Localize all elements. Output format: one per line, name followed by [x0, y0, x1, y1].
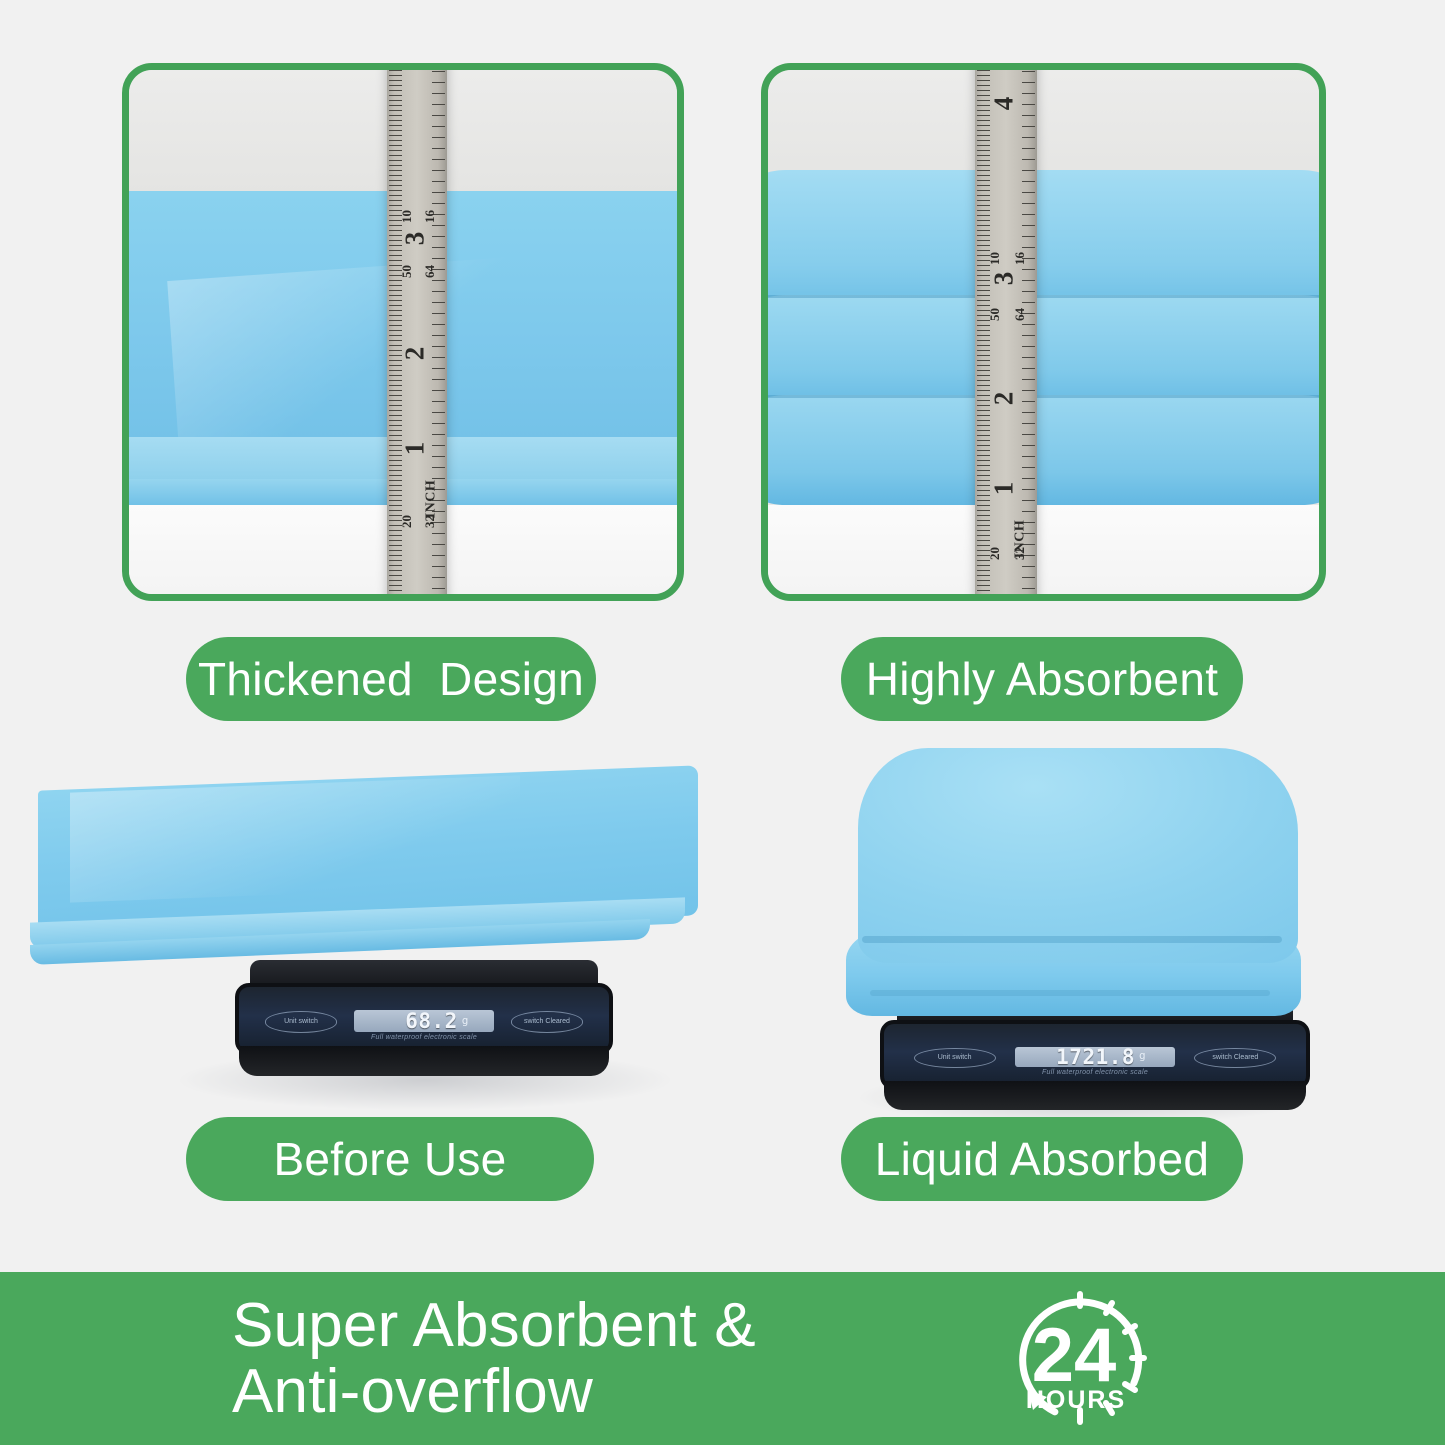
ruler-inch-mark-2: 2	[401, 346, 428, 360]
bottom-banner: Super Absorbent & Anti-overflow	[0, 1272, 1445, 1445]
underpad-fold-highlight	[167, 257, 518, 458]
photo-surface-bottom	[768, 505, 1319, 594]
clock-24-hours-icon: 24 HOURS	[1000, 1278, 1160, 1438]
label-thickened-design-text: Thickened Design	[198, 652, 584, 706]
unit-switch-button[interactable]: Unit switch	[265, 1011, 337, 1032]
scale-base	[884, 1081, 1305, 1110]
dry-underpad-sheen	[70, 775, 520, 902]
unit-switch-button[interactable]: Unit switch	[914, 1048, 996, 1068]
ruler-metric-mark-20: 20	[400, 515, 413, 528]
ruler-inch-mark-4: 4	[990, 96, 1017, 110]
scale-brand-mark	[239, 1001, 609, 1008]
label-highly-absorbent-text: Highly Absorbent	[866, 652, 1219, 706]
label-liquid-absorbed: Liquid Absorbed	[841, 1117, 1243, 1201]
scale-front-panel: Unit switch 68.2 g switch Cleared Full w…	[235, 983, 613, 1055]
banner-headline: Super Absorbent & Anti-overflow	[232, 1293, 756, 1424]
ruler-metric-mark-50: 50	[400, 265, 413, 278]
photo-frame-thickened-design: 3 2 1 INCH 10 50 20 16 64 32	[122, 63, 684, 601]
saturated-underpad-body	[858, 748, 1298, 963]
ruler-frac-mark-32: 32	[1013, 547, 1026, 560]
ruler-metric-mark-10: 10	[988, 252, 1001, 265]
ruler-ticks-right-edge	[1022, 70, 1035, 594]
ruler-frac-mark-16: 16	[423, 210, 436, 223]
ruler-inch-mark-3: 3	[401, 231, 428, 245]
swollen-underpad-layer-2	[768, 295, 1319, 405]
scale-caption: Full waterproof electronic scale	[239, 1034, 609, 1041]
scale-weight-unit: g	[1139, 1049, 1146, 1062]
underpad-crease-2	[768, 395, 1319, 398]
ruler-inch-mark-1: 1	[401, 441, 428, 455]
digital-scale-before-use: Unit switch 68.2 g switch Cleared Full w…	[235, 960, 613, 1076]
ruler-inch-mark-2: 2	[990, 391, 1017, 405]
ruler-frac-mark-64: 64	[1013, 308, 1026, 321]
photo-thickened-design: 3 2 1 INCH 10 50 20 16 64 32	[129, 70, 677, 594]
label-thickened-design: Thickened Design	[186, 637, 596, 721]
ruler-frac-mark-16: 16	[1013, 252, 1026, 265]
scale-weight-unit: g	[462, 1014, 469, 1027]
ruler-metric-mark-50: 50	[988, 308, 1001, 321]
photo-liquid-absorbed: Unit switch 1721.8 g switch Cleared Full…	[840, 740, 1330, 1090]
ruler-ticks-left-edge	[977, 70, 990, 594]
label-before-use-text: Before Use	[273, 1132, 506, 1186]
ruler-metric-mark-10: 10	[400, 210, 413, 223]
steel-ruler-left: 3 2 1 INCH 10 50 20 16 64 32	[387, 70, 447, 594]
ruler-unit-label: INCH	[424, 479, 438, 518]
ruler-inch-mark-1: 1	[990, 481, 1017, 495]
swollen-underpad-layer-3	[768, 395, 1319, 505]
scale-lcd-display: 1721.8 g	[1015, 1047, 1175, 1068]
tare-clear-button[interactable]: switch Cleared	[1194, 1048, 1276, 1068]
scale-front-panel: Unit switch 1721.8 g switch Cleared Full…	[880, 1020, 1310, 1089]
label-liquid-absorbed-text: Liquid Absorbed	[875, 1132, 1209, 1186]
scale-brand-mark	[884, 1038, 1306, 1045]
steel-ruler-right: 4 3 2 1 INCH 10 50 20 16 64 32	[975, 70, 1037, 594]
saturated-underpad-crease-1	[862, 936, 1282, 943]
label-before-use: Before Use	[186, 1117, 594, 1201]
underpad-crease-1	[768, 295, 1319, 298]
scale-lcd-display: 68.2 g	[354, 1010, 495, 1032]
photo-frame-highly-absorbent: 4 3 2 1 INCH 10 50 20 16 64 32	[761, 63, 1326, 601]
ruler-inch-mark-3: 3	[990, 271, 1017, 285]
saturated-underpad-crease-2	[870, 990, 1270, 996]
scale-base	[239, 1046, 609, 1076]
ruler-metric-mark-20: 20	[988, 547, 1001, 560]
swollen-underpad-layer-1	[768, 170, 1319, 306]
tare-clear-button[interactable]: switch Cleared	[511, 1011, 583, 1032]
badge-caption: HOURS	[1026, 1386, 1126, 1414]
scale-caption: Full waterproof electronic scale	[884, 1069, 1306, 1076]
scale-weight-value: 68.2	[405, 1010, 458, 1032]
photo-before-use: Unit switch 68.2 g switch Cleared Full w…	[30, 760, 730, 1090]
label-highly-absorbent: Highly Absorbent	[841, 637, 1243, 721]
photo-highly-absorbent: 4 3 2 1 INCH 10 50 20 16 64 32	[768, 70, 1319, 594]
ruler-frac-mark-32: 32	[423, 515, 436, 528]
ruler-frac-mark-64: 64	[423, 265, 436, 278]
scale-weight-value: 1721.8	[1056, 1047, 1135, 1068]
